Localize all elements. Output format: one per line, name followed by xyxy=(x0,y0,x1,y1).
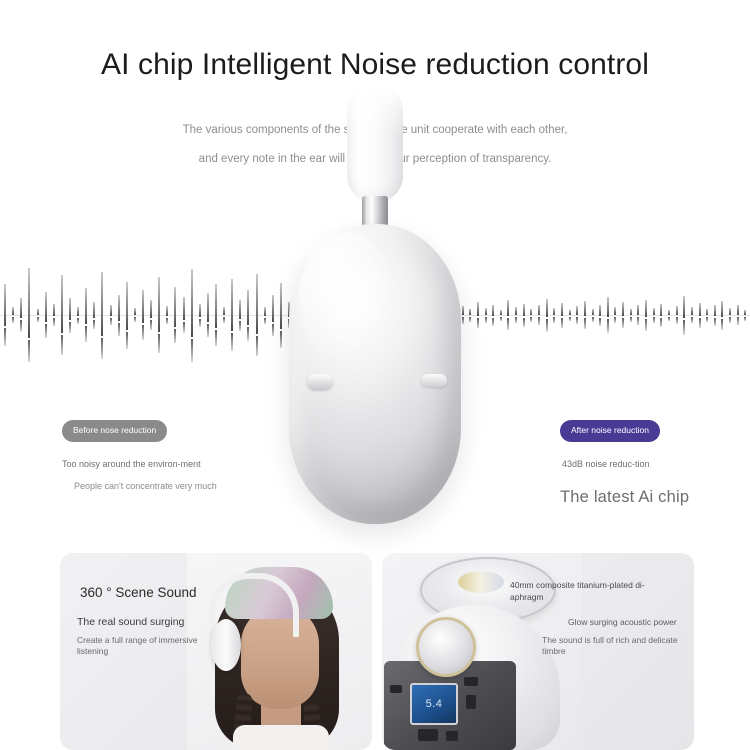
waveform-bar-upper xyxy=(231,279,233,331)
waveform-bar-lower xyxy=(126,332,128,349)
waveform-bar xyxy=(20,298,22,332)
waveform-bar xyxy=(622,302,624,328)
waveform-bar xyxy=(737,305,739,325)
waveform-bar-lower xyxy=(714,318,716,326)
waveform-bar-lower xyxy=(45,324,47,338)
waveform-bar xyxy=(239,300,241,331)
after-noise-reduction-waveform xyxy=(454,215,750,415)
card-title-diaphragm: 40mm composite titanium-plated di-aphrag… xyxy=(510,579,662,603)
waveform-bar xyxy=(4,284,6,346)
waveform-bar-upper xyxy=(507,300,509,316)
waveform-bar-upper xyxy=(515,307,517,315)
waveform-bar-lower xyxy=(191,339,193,362)
waveform-bar-lower xyxy=(53,318,55,326)
waveform-bar-upper xyxy=(561,303,563,316)
waveform-bar-upper xyxy=(101,272,103,336)
waveform-bar-upper xyxy=(691,307,693,315)
waveform-bar-lower xyxy=(683,320,685,335)
waveform-bar-lower xyxy=(622,318,624,328)
waveform-bar xyxy=(492,305,494,326)
waveform-bar xyxy=(507,300,509,330)
waveform-bar-upper xyxy=(737,305,739,315)
waveform-bar-upper xyxy=(207,293,209,322)
headband xyxy=(347,84,403,202)
waveform-bar-lower xyxy=(12,317,14,323)
waveform-bar xyxy=(561,303,563,328)
waveform-bar xyxy=(584,301,586,329)
waveform-bar-upper xyxy=(729,308,731,315)
waveform-bar xyxy=(199,304,201,327)
status-badge-before: Before nose reduction xyxy=(62,420,167,442)
waveform-bar-lower xyxy=(61,335,63,355)
latest-ai-chip-heading: The latest Ai chip xyxy=(560,488,750,507)
waveform-bar-lower xyxy=(134,317,136,322)
waveform-bar xyxy=(714,305,716,326)
waveform-bar-lower xyxy=(523,318,525,327)
waveform-bar-lower xyxy=(653,317,655,323)
smd-component xyxy=(464,677,478,686)
waveform-bar xyxy=(223,307,225,323)
waveform-bar xyxy=(142,290,144,340)
waveform-bar-upper xyxy=(45,292,47,322)
waveform-bar-upper xyxy=(645,300,647,317)
waveform-bar-lower xyxy=(546,319,548,332)
waveform-bar xyxy=(683,296,685,335)
waveform-bar-upper xyxy=(12,307,14,315)
waveform-bar-upper xyxy=(4,284,6,326)
card-subtitle-diaphragm: Glow surging acoustic power xyxy=(568,615,677,629)
waveform-bar-upper xyxy=(614,307,616,315)
waveform-bar-upper xyxy=(191,269,193,337)
before-annotation-line-1: Too noisy around the environ-ment xyxy=(62,458,262,471)
waveform-bar xyxy=(28,268,30,362)
waveform-bar-upper xyxy=(660,304,662,316)
waveform-bar-upper xyxy=(553,308,555,315)
waveform-bar-lower xyxy=(744,317,746,321)
after-annotation-line-1: 43dB noise reduc-tion xyxy=(560,458,750,471)
waveform-bar-lower xyxy=(569,317,571,321)
waveform-bar-upper xyxy=(546,299,548,317)
waveform-bar-upper xyxy=(256,274,258,334)
tank-top-shape xyxy=(233,725,329,750)
waveform-bar xyxy=(676,306,678,324)
waveform-bar-lower xyxy=(231,333,233,351)
waveform-bar-upper xyxy=(239,300,241,319)
waveform-bar-upper xyxy=(607,297,609,317)
waveform-bar xyxy=(110,305,112,325)
waveform-bar xyxy=(546,299,548,332)
card-subtitle-scene-sound: The real sound surging xyxy=(77,615,184,629)
waveform-bar-lower xyxy=(247,327,249,341)
status-badge-after: After noise reduction xyxy=(560,420,660,442)
waveform-bar xyxy=(126,282,128,349)
waveform-bar-lower xyxy=(183,322,185,333)
waveform-bar-lower xyxy=(538,317,540,325)
waveform-bar-upper xyxy=(158,277,160,332)
waveform-bar-lower xyxy=(77,318,79,324)
waveform-bar-lower xyxy=(676,317,678,324)
waveform-bar-lower xyxy=(492,318,494,326)
waveform-bar xyxy=(37,309,39,322)
waveform-bar xyxy=(134,308,136,322)
waveform-bar-upper xyxy=(592,309,594,315)
waveform-bar-lower xyxy=(101,338,103,359)
waveform-bar xyxy=(166,306,168,324)
waveform-bar-lower xyxy=(706,317,708,322)
waveform-bar-lower xyxy=(691,317,693,323)
waveform-bar xyxy=(256,274,258,356)
after-noise-annotation: After noise reduction 43dB noise reduc-t… xyxy=(560,420,750,507)
waveform-bar-lower xyxy=(637,317,639,325)
waveform-bar-lower xyxy=(500,317,502,321)
waveform-bar xyxy=(523,304,525,327)
waveform-bar-upper xyxy=(28,268,30,338)
waveform-bar xyxy=(118,295,120,336)
waveform-bar-upper xyxy=(183,297,185,320)
waveform-bar xyxy=(630,309,632,322)
waveform-bar xyxy=(53,304,55,326)
waveform-bar-lower xyxy=(4,328,6,346)
feature-card-scene-sound: 360 ° Scene Sound The real sound surging… xyxy=(60,553,372,750)
waveform-bar xyxy=(721,301,723,330)
waveform-bar-upper xyxy=(584,301,586,316)
waveform-bar-upper xyxy=(538,305,540,315)
waveform-bar xyxy=(653,308,655,323)
waveform-bar-upper xyxy=(53,304,55,316)
waveform-bar-lower xyxy=(166,318,168,324)
waveform-bar-upper xyxy=(744,310,746,315)
waveform-bar-upper xyxy=(93,302,95,318)
waveform-bar-lower xyxy=(630,317,632,322)
waveform-bar-upper xyxy=(637,305,639,315)
waveform-bar-upper xyxy=(174,287,176,327)
waveform-bar-lower xyxy=(599,318,601,326)
waveform-bar xyxy=(69,298,71,333)
waveform-bar xyxy=(668,310,670,321)
waveform-bar-upper xyxy=(37,309,39,315)
waveform-bar-lower xyxy=(607,319,609,333)
waveform-bar-upper xyxy=(576,306,578,315)
waveform-bar xyxy=(538,305,540,325)
waveform-bar-upper xyxy=(134,308,136,315)
waveform-bar xyxy=(515,307,517,323)
bluetooth-chip: 5.4 xyxy=(410,683,458,725)
waveform-bar-lower xyxy=(118,323,120,336)
waveform-bar-upper xyxy=(118,295,120,321)
waveform-bar xyxy=(158,277,160,353)
waveform-bar-lower xyxy=(93,320,95,329)
waveform-bar xyxy=(614,307,616,323)
before-noise-annotation: Before nose reduction Too noisy around t… xyxy=(62,420,262,493)
waveform-bar-lower xyxy=(737,317,739,325)
waveform-bar-lower xyxy=(592,317,594,322)
waveform-bar xyxy=(699,303,701,328)
waveform-bar xyxy=(691,307,693,323)
waveform-bar xyxy=(660,304,662,327)
waveform-bar xyxy=(706,309,708,322)
page-title: AI chip Intelligent Noise reduction cont… xyxy=(0,48,750,82)
waveform-bar-upper xyxy=(530,309,532,315)
noise-control-button xyxy=(421,374,447,387)
waveform-bar xyxy=(215,284,217,346)
waveform-bar-lower xyxy=(553,317,555,323)
waveform-bar-lower xyxy=(85,326,87,342)
waveform-bar-upper xyxy=(500,310,502,315)
smd-component xyxy=(390,685,402,693)
feature-card-diaphragm: 5.4 40mm composite titanium-plated di-ap… xyxy=(382,553,694,750)
waveform-bar-lower xyxy=(729,317,731,323)
waveform-bar-lower xyxy=(110,318,112,325)
waveform-bar-lower xyxy=(576,317,578,324)
waveform-bar-lower xyxy=(645,319,647,331)
waveform-bar-upper xyxy=(77,307,79,316)
waveform-bar xyxy=(637,305,639,325)
waveform-bar xyxy=(77,307,79,324)
waveform-bar-upper xyxy=(523,304,525,316)
waveform-bar xyxy=(174,287,176,343)
waveform-bar xyxy=(183,297,185,333)
waveform-bar-upper xyxy=(599,305,601,316)
waveform-bar xyxy=(85,288,87,342)
waveform-bar-lower xyxy=(721,319,723,330)
waveform-bar-lower xyxy=(37,317,39,322)
waveform-bar-upper xyxy=(622,302,624,316)
card-title-scene-sound: 360 ° Scene Sound xyxy=(80,585,197,601)
waveform-bar xyxy=(191,269,193,362)
waveform-bar-lower xyxy=(515,317,517,323)
waveform-bar xyxy=(553,308,555,323)
waveform-bar xyxy=(729,308,731,323)
waveform-bar-upper xyxy=(199,304,201,317)
worn-earcup xyxy=(211,619,241,671)
waveform-bar xyxy=(247,290,249,341)
waveform-bar xyxy=(207,293,209,337)
waveform-bar-upper xyxy=(247,290,249,325)
waveform-bar xyxy=(599,305,601,326)
product-marketing-page: AI chip Intelligent Noise reduction cont… xyxy=(0,0,750,750)
waveform-bar xyxy=(607,297,609,333)
waveform-bar xyxy=(231,279,233,351)
waveform-bar xyxy=(45,292,47,338)
waveform-bar xyxy=(645,300,647,331)
waveform-bar-upper xyxy=(215,284,217,328)
waveform-bar-lower xyxy=(199,319,201,327)
waveform-bar-upper xyxy=(142,290,144,323)
waveform-bar-lower xyxy=(28,340,30,362)
waveform-bar-upper xyxy=(223,307,225,315)
waveform-bar-lower xyxy=(158,334,160,353)
card-description-scene-sound: Create a full range of immersive listeni… xyxy=(77,635,202,657)
before-annotation-line-2: People can't concentrate very much xyxy=(62,480,262,493)
waveform-bar-lower xyxy=(223,317,225,323)
waveform-bar-lower xyxy=(239,321,241,331)
waveform-bar-upper xyxy=(683,296,685,318)
waveform-bar-lower xyxy=(215,330,217,346)
waveform-bar xyxy=(500,310,502,321)
waveform-bar-lower xyxy=(20,320,22,332)
waveform-bar-upper xyxy=(668,310,670,315)
smd-component xyxy=(466,695,476,709)
waveform-bar-upper xyxy=(653,308,655,315)
waveform-bar-lower xyxy=(530,317,532,322)
waveform-bar-lower xyxy=(614,317,616,323)
waveform-bar-lower xyxy=(142,325,144,340)
waveform-bar-lower xyxy=(584,318,586,329)
digital-crown-icon xyxy=(307,374,333,390)
smd-component xyxy=(446,731,458,741)
waveform-bar-lower xyxy=(660,318,662,327)
waveform-bar-upper xyxy=(110,305,112,316)
waveform-bar-upper xyxy=(61,275,63,333)
waveform-bar-lower xyxy=(699,318,701,328)
waveform-bar xyxy=(101,272,103,359)
waveform-bar-upper xyxy=(569,310,571,315)
waveform-bar xyxy=(150,300,152,330)
waveform-bar-upper xyxy=(69,298,71,320)
waveform-bar-upper xyxy=(150,300,152,318)
waveform-bar-lower xyxy=(507,318,509,330)
waveform-bar-lower xyxy=(561,318,563,328)
waveform-bar-upper xyxy=(20,298,22,318)
woman-wearing-headphones-photo xyxy=(187,553,372,750)
waveform-bar-upper xyxy=(699,303,701,316)
waveform-bar-upper xyxy=(714,305,716,316)
waveform-bar xyxy=(61,275,63,355)
waveform-bar xyxy=(744,310,746,321)
waveform-bar-upper xyxy=(676,306,678,315)
waveform-bar-lower xyxy=(174,329,176,343)
waveform-bar-lower xyxy=(256,336,258,356)
card-description-diaphragm: The sound is full of rich and delicate t… xyxy=(542,635,688,657)
voice-coil-shape xyxy=(416,617,476,677)
waveform-bar xyxy=(12,307,14,323)
waveform-bar xyxy=(576,306,578,324)
waveform-bar xyxy=(530,309,532,322)
waveform-bar-lower xyxy=(207,324,209,337)
waveform-bar-upper xyxy=(85,288,87,324)
waveform-bar xyxy=(93,302,95,329)
waveform-bar-upper xyxy=(706,309,708,315)
waveform-bar-upper xyxy=(630,309,632,315)
waveform-bar-lower xyxy=(668,317,670,321)
waveform-bar-lower xyxy=(69,322,71,333)
waveform-bar xyxy=(569,310,571,321)
waveform-bar xyxy=(592,309,594,322)
waveform-bar-lower xyxy=(150,320,152,330)
waveform-bar-upper xyxy=(492,305,494,316)
waveform-bar-upper xyxy=(721,301,723,317)
waveform-bar-upper xyxy=(166,306,168,316)
headphone-product-image xyxy=(260,84,490,544)
earcup xyxy=(289,224,461,524)
waveform-bar-upper xyxy=(126,282,128,330)
smd-component xyxy=(418,729,438,741)
